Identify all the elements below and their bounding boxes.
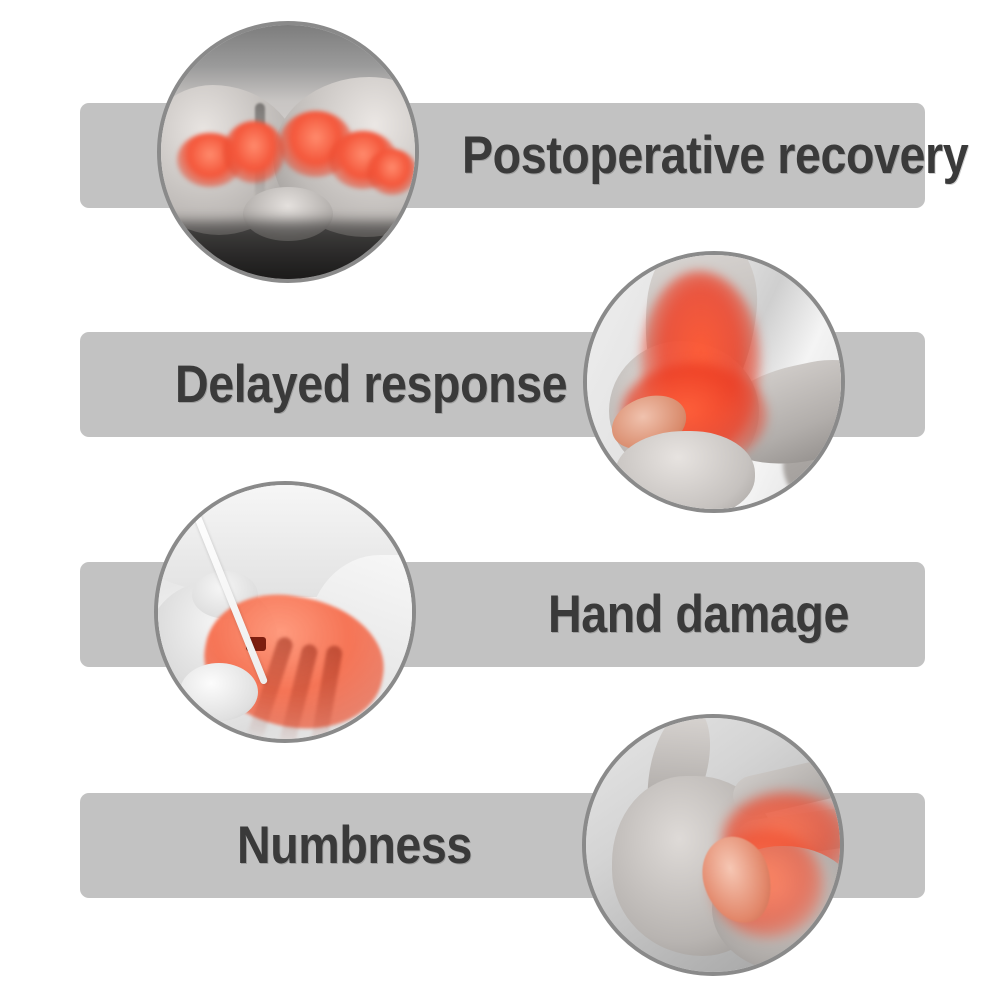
symptom-photo-delayed-response [583,251,845,513]
lower-shadow [161,221,415,279]
symptom-label-postoperative-recovery: Postoperative recovery [462,103,968,208]
symptom-label-delayed-response: Delayed response [175,332,567,437]
symptom-photo-hand-damage [154,481,416,743]
photo-scene-fists [161,25,415,279]
photo-scene-bandaged-hand [158,485,412,739]
symptom-label-hand-damage: Hand damage [548,562,849,667]
knuckle-pain-highlight-2 [223,121,285,183]
symptom-label-numbness: Numbness [237,793,472,898]
infographic-stage: Postoperative recovery Delayed response [0,0,1000,1000]
knuckles-shape [180,663,258,721]
symptom-photo-postoperative-recovery [157,21,419,283]
lower-palm-shape [615,431,755,509]
photo-scene-wrist-grip [587,255,841,509]
symptom-photo-numbness [582,714,844,976]
knuckle-pain-highlight-5 [367,149,415,195]
photo-scene-open-palm [586,718,840,972]
